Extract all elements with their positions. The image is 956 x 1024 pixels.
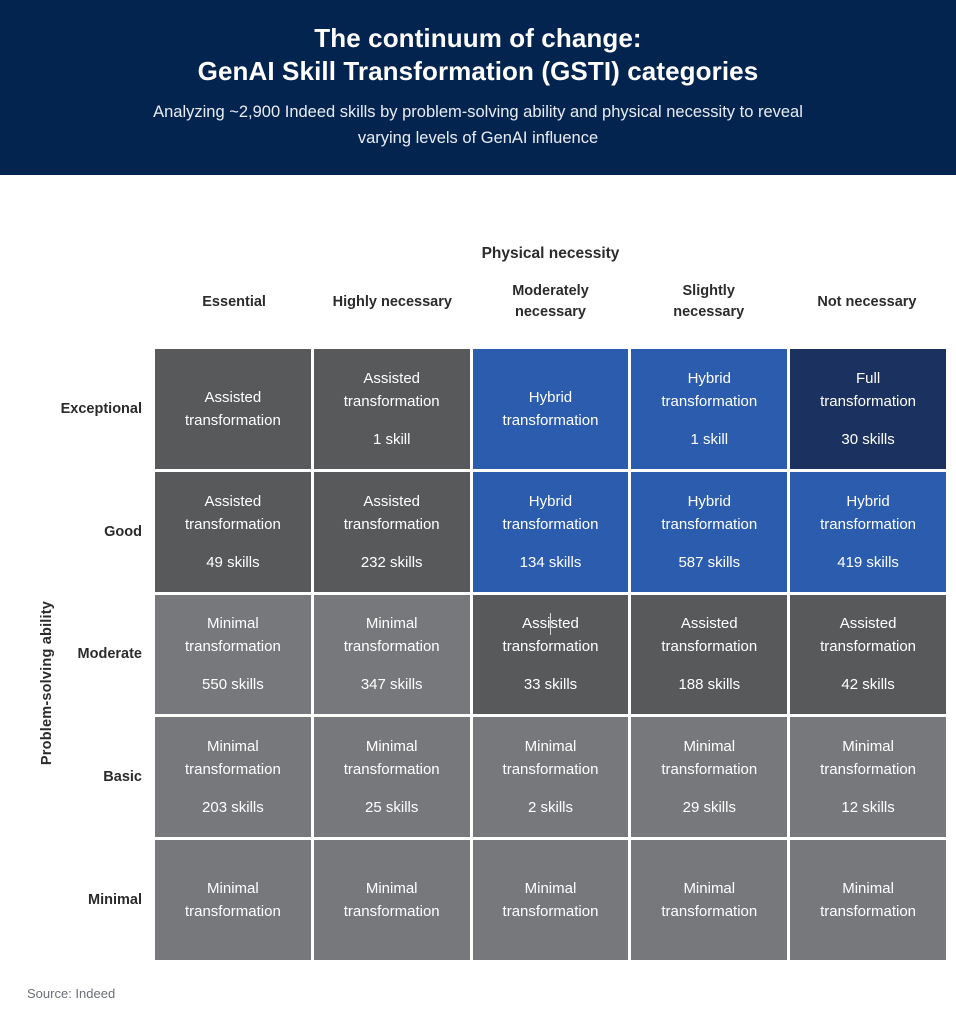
matrix-row: ModerateMinimal transformation550 skills… xyxy=(155,595,946,715)
matrix-row: MinimalMinimal transformationMinimal tra… xyxy=(155,840,946,960)
cell-skill-count: 12 skills xyxy=(841,796,894,819)
matrix-row: ExceptionalAssisted transformationAssist… xyxy=(155,349,946,469)
cell-category-label: Minimal transformation xyxy=(661,735,757,781)
row-label-4: Minimal xyxy=(0,840,142,960)
cell-skill-count: 49 skills xyxy=(206,551,259,574)
matrix-cell-r1-c1[interactable]: Assisted transformation232 skills xyxy=(314,472,470,592)
heatmap-chart: Physical necessity EssentialHighly neces… xyxy=(0,175,956,1024)
cell-category-label: Minimal transformation xyxy=(820,877,916,923)
matrix-row: BasicMinimal transformation203 skillsMin… xyxy=(155,717,946,837)
matrix-cell-r3-c3[interactable]: Minimal transformation29 skills xyxy=(631,717,787,837)
cell-skill-count: 550 skills xyxy=(202,673,264,696)
cell-category-label: Assisted transformation xyxy=(344,367,440,413)
cell-skill-count: 188 skills xyxy=(678,673,740,696)
cell-category-label: Assisted transformation xyxy=(185,386,281,432)
cell-skill-count: 134 skills xyxy=(520,551,582,574)
matrix-cell-r1-c2[interactable]: Hybrid transformation134 skills xyxy=(473,472,629,592)
cell-category-label: Hybrid transformation xyxy=(820,490,916,536)
x-axis-title: Physical necessity xyxy=(155,245,946,263)
matrix-cell-r3-c0[interactable]: Minimal transformation203 skills xyxy=(155,717,311,837)
cell-skill-count: 29 skills xyxy=(683,796,736,819)
page-title-line-1: The continuum of change: xyxy=(314,22,641,55)
cell-category-label: Minimal transformation xyxy=(344,735,440,781)
cell-category-label: Minimal transformation xyxy=(185,612,281,658)
cell-category-label: Minimal transformation xyxy=(185,735,281,781)
column-header-1: Highly necessary xyxy=(313,271,471,333)
cell-category-label: Minimal transformation xyxy=(344,877,440,923)
cell-category-label: Hybrid transformation xyxy=(661,490,757,536)
cell-skill-count: 25 skills xyxy=(365,796,418,819)
column-header-4: Not necessary xyxy=(788,271,946,333)
matrix-cell-r3-c1[interactable]: Minimal transformation25 skills xyxy=(314,717,470,837)
matrix-cell-r2-c0[interactable]: Minimal transformation550 skills xyxy=(155,595,311,715)
cell-category-label: Minimal transformation xyxy=(344,612,440,658)
column-header-2: Moderately necessary xyxy=(471,271,629,333)
column-header-3: Slightly necessary xyxy=(630,271,788,333)
cell-skill-count: 419 skills xyxy=(837,551,899,574)
matrix-cell-r4-c2[interactable]: Minimal transformation xyxy=(473,840,629,960)
matrix-cell-r4-c4[interactable]: Minimal transformation xyxy=(790,840,946,960)
matrix-cell-r0-c1[interactable]: Assisted transformation1 skill xyxy=(314,349,470,469)
matrix-cell-r3-c2[interactable]: Minimal transformation2 skills xyxy=(473,717,629,837)
cell-category-label: Hybrid transformation xyxy=(503,386,599,432)
matrix-cell-r2-c2[interactable]: Assisted transformation33 skills xyxy=(473,595,629,715)
page-subtitle: Analyzing ~2,900 Indeed skills by proble… xyxy=(138,99,818,151)
cell-category-label: Minimal transformation xyxy=(503,735,599,781)
matrix-cell-r2-c1[interactable]: Minimal transformation347 skills xyxy=(314,595,470,715)
cell-skill-count: 203 skills xyxy=(202,796,264,819)
header-banner: The continuum of change: GenAI Skill Tra… xyxy=(0,0,956,175)
cell-skill-count: 2 skills xyxy=(528,796,573,819)
row-label-3: Basic xyxy=(0,717,142,837)
matrix-cell-r4-c0[interactable]: Minimal transformation xyxy=(155,840,311,960)
matrix-grid: ExceptionalAssisted transformationAssist… xyxy=(155,349,946,960)
row-label-0: Exceptional xyxy=(0,349,142,469)
cell-skill-count: 30 skills xyxy=(841,428,894,451)
cell-category-label: Minimal transformation xyxy=(661,877,757,923)
cell-category-label: Minimal transformation xyxy=(503,877,599,923)
matrix-cell-r4-c3[interactable]: Minimal transformation xyxy=(631,840,787,960)
source-note: Source: Indeed xyxy=(27,986,115,1001)
matrix-cell-r1-c3[interactable]: Hybrid transformation587 skills xyxy=(631,472,787,592)
matrix-cell-r2-c3[interactable]: Assisted transformation188 skills xyxy=(631,595,787,715)
cell-skill-count: 1 skill xyxy=(373,428,411,451)
cell-skill-count: 232 skills xyxy=(361,551,423,574)
cell-skill-count: 347 skills xyxy=(361,673,423,696)
matrix-row: GoodAssisted transformation49 skillsAssi… xyxy=(155,472,946,592)
cell-skill-count: 1 skill xyxy=(691,428,729,451)
matrix-cell-r4-c1[interactable]: Minimal transformation xyxy=(314,840,470,960)
matrix-cell-r2-c4[interactable]: Assisted transformation42 skills xyxy=(790,595,946,715)
matrix-cell-r0-c0[interactable]: Assisted transformation xyxy=(155,349,311,469)
row-label-1: Good xyxy=(0,472,142,592)
column-header-row: EssentialHighly necessaryModerately nece… xyxy=(155,271,946,333)
cell-category-label: Hybrid transformation xyxy=(661,367,757,413)
cell-category-label: Assisted transformation xyxy=(344,490,440,536)
matrix-cell-r3-c4[interactable]: Minimal transformation12 skills xyxy=(790,717,946,837)
matrix-cell-r1-c4[interactable]: Hybrid transformation419 skills xyxy=(790,472,946,592)
cell-category-label: Minimal transformation xyxy=(820,735,916,781)
page-title-line-2: GenAI Skill Transformation (GSTI) catego… xyxy=(198,55,759,88)
cell-category-label: Assisted transformation xyxy=(661,612,757,658)
cell-category-label: Full transformation xyxy=(820,367,916,413)
matrix-cell-r1-c0[interactable]: Assisted transformation49 skills xyxy=(155,472,311,592)
column-header-0: Essential xyxy=(155,271,313,333)
matrix-cell-r0-c2[interactable]: Hybrid transformation xyxy=(473,349,629,469)
cell-category-label: Minimal transformation xyxy=(185,877,281,923)
cell-category-label: Hybrid transformation xyxy=(503,490,599,536)
row-label-2: Moderate xyxy=(0,595,142,715)
cell-skill-count: 42 skills xyxy=(841,673,894,696)
matrix-cell-r0-c4[interactable]: Full transformation30 skills xyxy=(790,349,946,469)
cell-skill-count: 587 skills xyxy=(678,551,740,574)
text-caret-artifact xyxy=(550,613,551,635)
cell-skill-count: 33 skills xyxy=(524,673,577,696)
cell-category-label: Assisted transformation xyxy=(820,612,916,658)
matrix-cell-r0-c3[interactable]: Hybrid transformation1 skill xyxy=(631,349,787,469)
cell-category-label: Assisted transformation xyxy=(185,490,281,536)
